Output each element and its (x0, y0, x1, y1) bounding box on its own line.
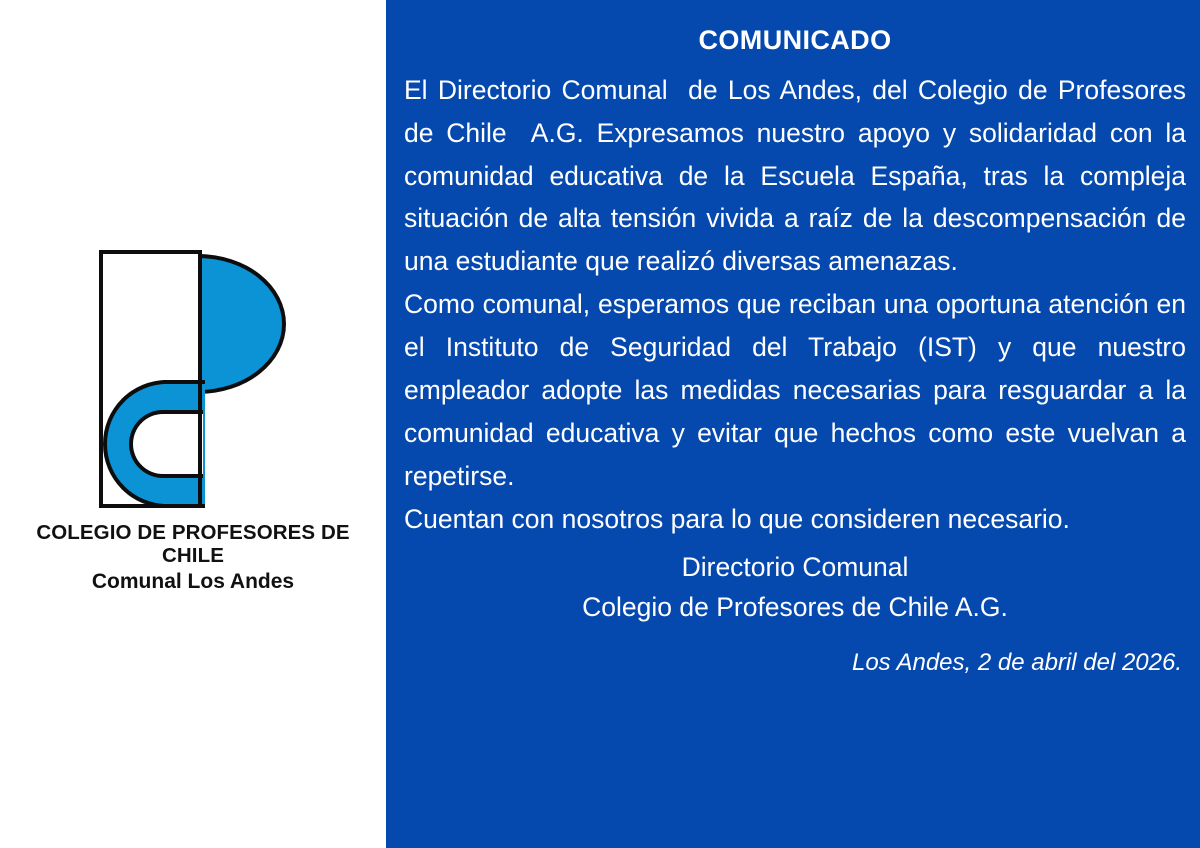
notice-date: Los Andes, 2 de abril del 2026. (404, 649, 1186, 677)
logo-caption-line-1: COLEGIO DE PROFESORES DE (13, 522, 373, 545)
signature-line-2: Colegio de Profesores de Chile A.G. (404, 587, 1186, 627)
notice-title: COMUNICADO (404, 26, 1186, 56)
notice-panel: COMUNICADO El Directorio Comunal de Los … (386, 0, 1200, 848)
signature-line-1: Directorio Comunal (404, 547, 1186, 587)
logo-c-notch-bottom-edge (163, 474, 203, 478)
logo-c-notch-fill (163, 410, 203, 478)
logo-c-notch-top-edge (163, 410, 203, 414)
notice-content: COMUNICADO El Directorio Comunal de Los … (404, 26, 1186, 677)
logo-rectangle-right-edge (198, 250, 202, 508)
comunicado-poster: COLEGIO DE PROFESORES DE CHILE Comunal L… (0, 0, 1200, 848)
logo-panel: COLEGIO DE PROFESORES DE CHILE Comunal L… (0, 0, 386, 848)
logo-caption-line-2: CHILE (13, 545, 373, 568)
colegio-de-profesores-logo-icon (93, 242, 293, 512)
notice-paragraph-3: Cuentan con nosotros para lo que conside… (404, 498, 1186, 541)
logo-caption-line-3: Comunal Los Andes (13, 570, 373, 595)
notice-paragraph-1: El Directorio Comunal de Los Andes, del … (404, 69, 1186, 284)
logo-caption: COLEGIO DE PROFESORES DE CHILE Comunal L… (13, 522, 373, 595)
logo-block: COLEGIO DE PROFESORES DE CHILE Comunal L… (0, 242, 386, 595)
logo-p-bowl-shape (198, 254, 286, 394)
notice-paragraph-2: Como comunal, esperamos que reciban una … (404, 283, 1186, 498)
notice-signature: Directorio Comunal Colegio de Profesores… (404, 547, 1186, 628)
